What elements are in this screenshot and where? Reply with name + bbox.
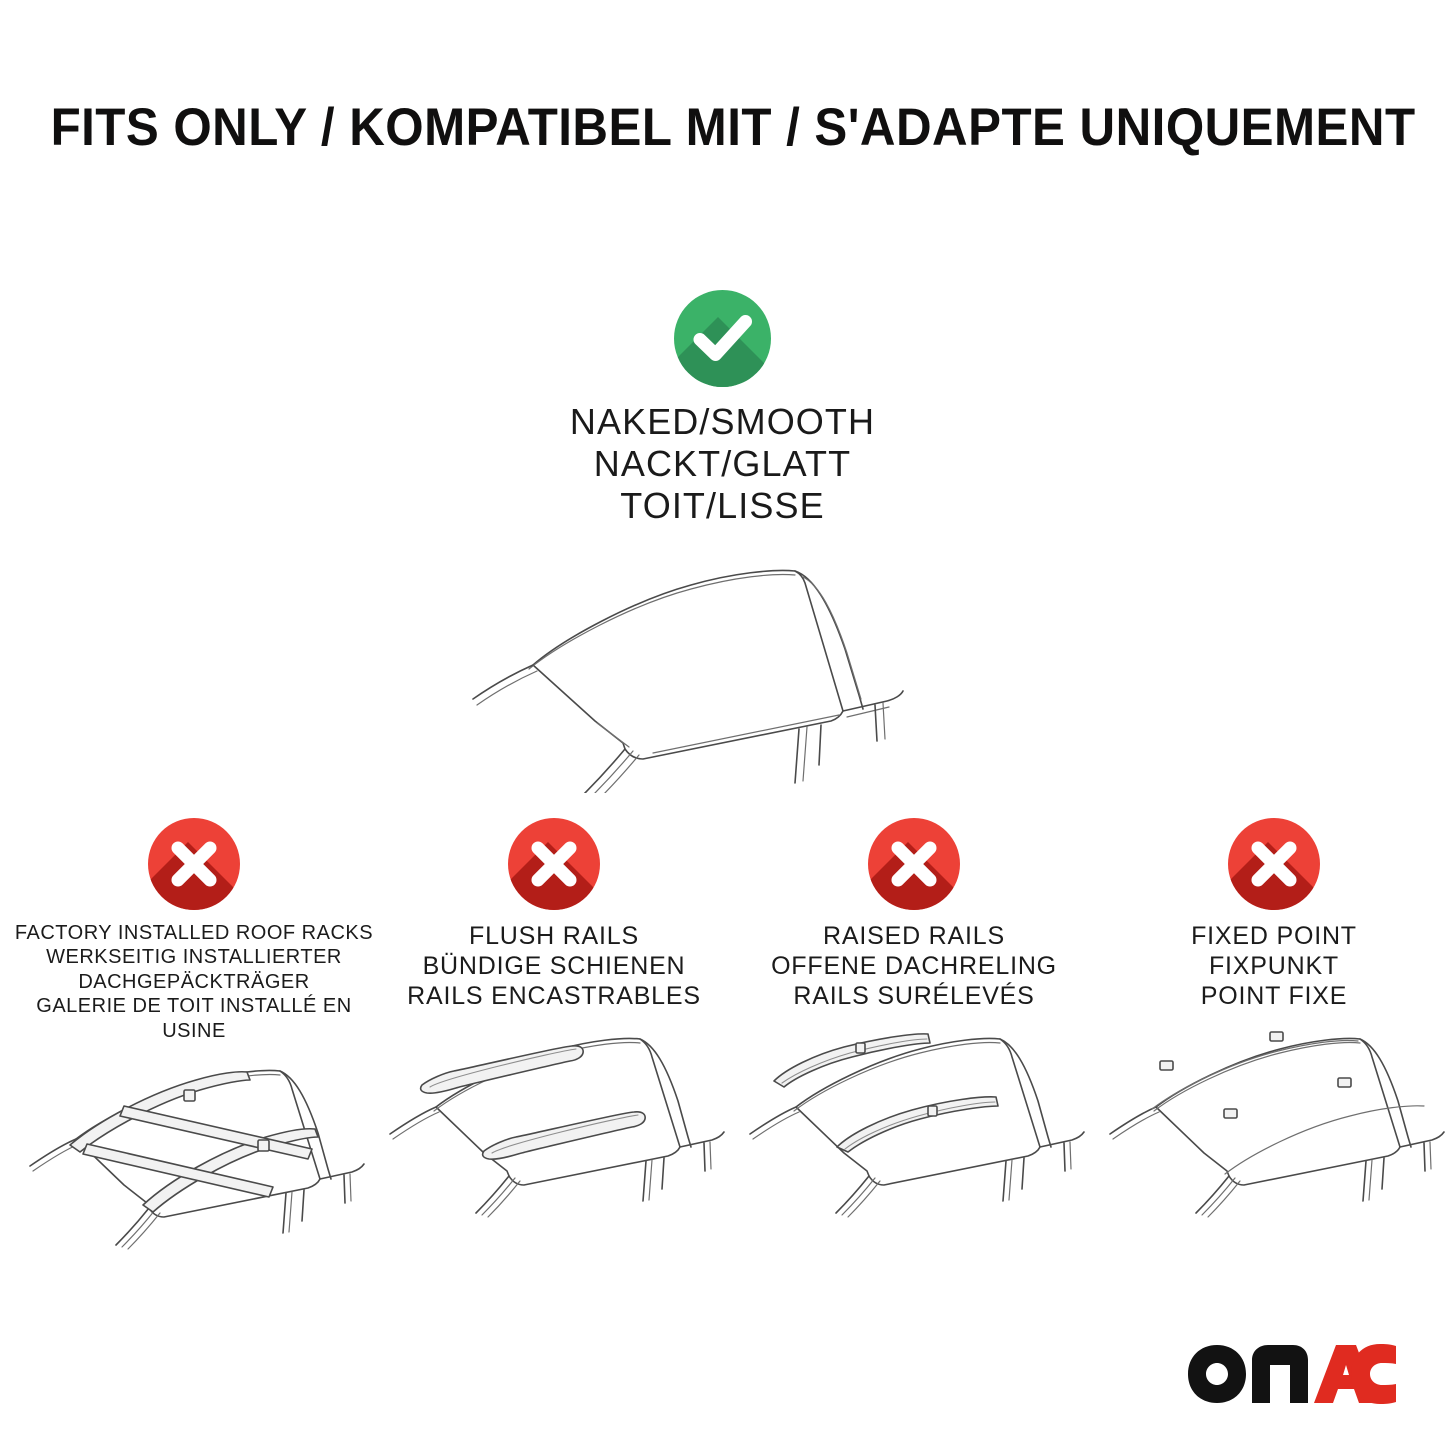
label-de: FIXPUNKT [1191, 951, 1357, 981]
incompatible-column-raised-rails: RAISED RAILS OFFENE DACHRELING RAILS SUR… [734, 818, 1094, 1268]
x-circle-icon [1228, 818, 1320, 910]
compatible-labels: NAKED/SMOOTH NACKT/GLATT TOIT/LISSE [570, 401, 875, 527]
page-title-text: FITS ONLY / KOMPATIBEL MIT / S'ADAPTE UN… [51, 100, 1395, 156]
label-de-line2: DACHGEPÄCKTRÄGER [14, 970, 374, 994]
fitment-guide-page: FITS ONLY / KOMPATIBEL MIT / S'ADAPTE UN… [0, 0, 1445, 1445]
label-en: FACTORY INSTALLED ROOF RACKS [14, 921, 374, 945]
car-roof-raised-rails-illustration [734, 1021, 1094, 1236]
label-de: OFFENE DACHRELING [771, 951, 1057, 981]
compatible-label-fr: TOIT/LISSE [570, 485, 875, 527]
label-fr: POINT FIXE [1191, 981, 1357, 1011]
car-roof-naked-smooth-illustration [443, 543, 1003, 793]
x-mark-glyph [508, 818, 600, 910]
x-mark-glyph [1228, 818, 1320, 910]
check-mark-glyph [674, 290, 771, 387]
compatible-label-de: NACKT/GLATT [570, 443, 875, 485]
label-en: FIXED POINT [1191, 921, 1357, 951]
x-circle-icon [868, 818, 960, 910]
car-roof-fixed-point-illustration [1094, 1021, 1445, 1236]
logo-letter-o [1188, 1345, 1246, 1403]
x-circle-icon [148, 818, 240, 910]
label-en: FLUSH RAILS [407, 921, 701, 951]
label-de-line1: WERKSEITIG INSTALLIERTER [14, 945, 374, 969]
incompatible-section: FACTORY INSTALLED ROOF RACKS WERKSEITIG … [0, 818, 1445, 1268]
label-de: BÜNDIGE SCHIENEN [407, 951, 701, 981]
label-fr: RAILS ENCASTRABLES [407, 981, 701, 1011]
incompatible-labels-raised-rails: RAISED RAILS OFFENE DACHRELING RAILS SUR… [771, 921, 1057, 1011]
x-mark-glyph [868, 818, 960, 910]
car-roof-factory-racks-illustration [14, 1053, 374, 1268]
omac-logo-mark [1186, 1343, 1398, 1405]
incompatible-labels-factory-racks: FACTORY INSTALLED ROOF RACKS WERKSEITIG … [14, 921, 374, 1043]
incompatible-column-factory-racks: FACTORY INSTALLED ROOF RACKS WERKSEITIG … [14, 818, 374, 1268]
x-circle-icon [508, 818, 600, 910]
label-fr: RAILS SURÉLEVÉS [771, 981, 1057, 1011]
label-en: RAISED RAILS [771, 921, 1057, 951]
omac-logo [1186, 1343, 1398, 1405]
incompatible-column-flush-rails: FLUSH RAILS BÜNDIGE SCHIENEN RAILS ENCAS… [374, 818, 734, 1268]
compatible-label-en: NAKED/SMOOTH [570, 401, 875, 443]
compatible-section: NAKED/SMOOTH NACKT/GLATT TOIT/LISSE [0, 290, 1445, 793]
check-circle-icon [674, 290, 771, 387]
incompatible-column-fixed-point: FIXED POINT FIXPUNKT POINT FIXE [1094, 818, 1445, 1268]
incompatible-labels-flush-rails: FLUSH RAILS BÜNDIGE SCHIENEN RAILS ENCAS… [407, 921, 701, 1011]
incompatible-labels-fixed-point: FIXED POINT FIXPUNKT POINT FIXE [1191, 921, 1357, 1011]
x-mark-glyph [148, 818, 240, 910]
car-roof-flush-rails-illustration [374, 1021, 734, 1236]
logo-letter-m [1252, 1345, 1308, 1403]
label-fr: GALERIE DE TOIT INSTALLÉ EN USINE [14, 994, 374, 1043]
page-title: FITS ONLY / KOMPATIBEL MIT / S'ADAPTE UN… [0, 100, 1445, 156]
